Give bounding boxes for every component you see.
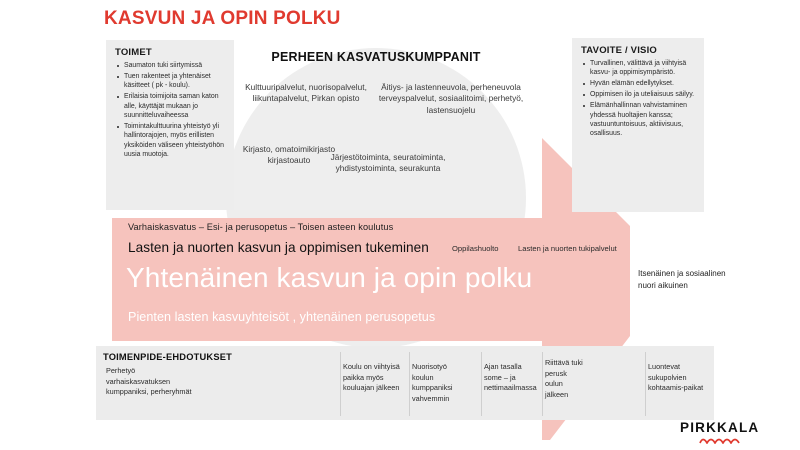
wave-icon [698, 436, 742, 444]
partners-organizations: Järjestötoiminta, seuratoiminta, yhdisty… [326, 152, 450, 175]
toimet-box: TOIMET Saumaton tuki siirtymissä Tuen ra… [106, 40, 234, 210]
list-item: Toimintakulttuurina yhteistyö yli hallin… [115, 122, 226, 160]
toimenpide-column: Riittävä tuki perusk oulun jälkeen [545, 358, 585, 400]
list-item: Oppimisen ilo ja uteliaisuus säilyy. [581, 90, 696, 99]
list-item: Hyvän elämän edellytykset. [581, 79, 696, 88]
toimenpide-column: Ajan tasalla some – ja nettimaailmassa [484, 362, 540, 394]
partners-culture-services: Kulttuuripalvelut, nuorisopalvelut, liik… [236, 82, 376, 105]
pirkkala-logo: PIRKKALA [680, 420, 759, 444]
toimenpide-heading: TOIMENPIDE-EHDOTUKSET [103, 352, 232, 362]
partners-heading: PERHEEN KASVATUSKUMPPANIT [226, 50, 526, 64]
toimenpide-column: Koulu on viihtyisä paikka myös kouluajan… [343, 362, 403, 394]
band-tag-oppilashuolto: Oppilashuolto [452, 244, 498, 253]
list-item: Turvallinen, välittävä ja viihtyisä kasv… [581, 59, 696, 78]
toimet-heading: TOIMET [115, 47, 226, 58]
list-item: Erilaisia toimijoita saman katon alle, k… [115, 92, 226, 120]
band-subheadline: Pienten lasten kasvuyhteisöt , yhtenäine… [128, 310, 435, 324]
tavoite-visio-box: TAVOITE / VISIO Turvallinen, välittävä j… [572, 38, 704, 212]
page-title: KASVUN JA OPIN POLKU [104, 8, 341, 30]
column-divider [409, 352, 410, 416]
list-item: Saumaton tuki siirtymissä [115, 61, 226, 70]
column-divider [645, 352, 646, 416]
outcome-label: Itsenäinen ja sosiaalinen nuori aikuinen [638, 268, 728, 291]
slide-canvas: KASVUN JA OPIN POLKU TOIMET Saumaton tuk… [0, 0, 800, 450]
list-item: Elämänhallinnan vahvistaminen yhdessä hu… [581, 101, 696, 139]
band-support-line: Lasten ja nuorten kasvun ja oppimisen tu… [128, 240, 429, 255]
column-divider [340, 352, 341, 416]
tavoite-heading: TAVOITE / VISIO [581, 45, 696, 56]
band-tag-tukipalvelut: Lasten ja nuorten tukipalvelut [518, 244, 617, 253]
toimenpide-column: Luontevat sukupolvien kohtaamis-paikat [648, 362, 714, 394]
pirkkala-logo-text: PIRKKALA [680, 420, 759, 435]
column-divider [542, 352, 543, 416]
band-headline: Yhtenäinen kasvun ja opin polku [126, 262, 532, 294]
column-divider [481, 352, 482, 416]
toimenpide-column: Perhetyö varhaiskasvatuksen kumppaniksi,… [106, 366, 201, 398]
toimenpide-column: Nuorisotyö koulun kumppaniksi vahvemmin [412, 362, 468, 404]
tavoite-list: Turvallinen, välittävä ja viihtyisä kasv… [581, 59, 696, 139]
list-item: Tuen rakenteet ja yhtenäiset käsitteet (… [115, 72, 226, 91]
partners-health-services: Äitiys- ja lastenneuvola, perheneuvola t… [372, 82, 530, 116]
band-education-stages: Varhaiskasvatus – Esi- ja perusopetus – … [128, 222, 393, 232]
toimet-list: Saumaton tuki siirtymissä Tuen rakenteet… [115, 61, 226, 160]
